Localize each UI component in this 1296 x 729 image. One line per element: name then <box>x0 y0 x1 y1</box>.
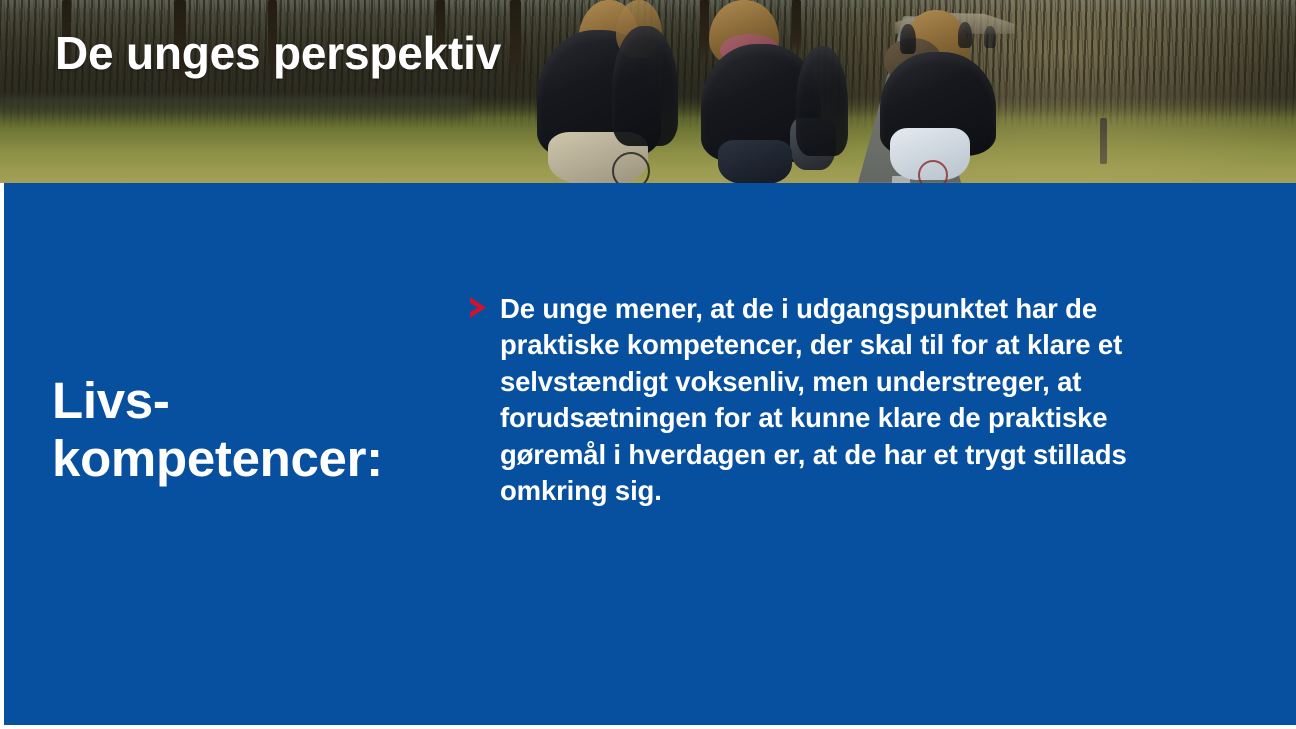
tree-trunk <box>700 0 709 64</box>
lead-heading: Livs- kompetencer: <box>52 372 452 488</box>
bottom-edge-border <box>0 725 1296 729</box>
bullet-text: De unge mener, at de i udgangspunktet ha… <box>500 291 1180 509</box>
tree-trunk <box>510 0 521 86</box>
page-title: De unges perspektiv <box>55 26 501 80</box>
bullet-list-item: De unge mener, at de i udgangspunktet ha… <box>468 291 1180 509</box>
path-post <box>1100 118 1107 164</box>
left-edge-border <box>0 183 4 729</box>
pond-water <box>0 96 470 122</box>
slide: De unges perspektiv Livs- kompetencer: D… <box>0 0 1296 729</box>
tree-trunk <box>792 0 801 58</box>
header-photo-band: De unges perspektiv <box>0 0 1296 183</box>
chevron-right-icon <box>468 295 490 321</box>
